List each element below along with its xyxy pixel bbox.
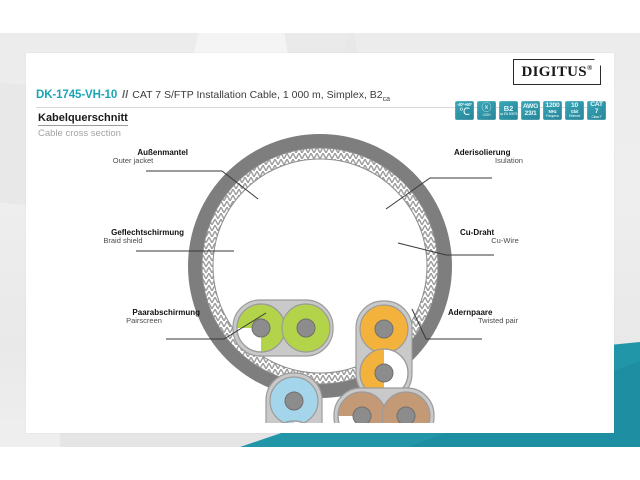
badge-line-2: ℃: [459, 108, 470, 118]
no-flame-icon: ⓧ: [482, 104, 492, 114]
wire-blue-solid: [270, 377, 318, 423]
callout-label-en: Cu-Wire: [460, 237, 550, 246]
callout-label-en: Braid shield: [62, 237, 184, 246]
product-description: CAT 7 S/FTP Installation Cable, 1 000 m,…: [132, 89, 382, 101]
callout-label-en: Isulation: [454, 157, 564, 166]
callout-outer-jacket: Außenmantel Outer jacket: [78, 148, 188, 166]
copper-core: [353, 407, 371, 423]
badge-line-3: ca EN 50575: [500, 113, 517, 116]
callout-insulation: Aderisolierung Isulation: [454, 148, 564, 166]
callout-cu-wire: Cu-Draht Cu-Wire: [460, 228, 550, 246]
title-separator: //: [122, 89, 128, 101]
category-badge: CAT 7 Class F: [587, 101, 606, 120]
copper-core: [297, 319, 315, 337]
callout-twisted-pair: Adernpaare Twisted pair: [448, 308, 548, 326]
badge-line-3: Class F: [591, 116, 601, 119]
pair-orange: [356, 301, 412, 401]
feature-badge-row: -40°+60° ℃ ⓧ LSZH B2 ca EN 50575 AWG 23/…: [455, 101, 606, 120]
product-description-subscript: ca: [383, 96, 390, 103]
copper-core: [397, 407, 415, 423]
frequency-badge: 1200 MHz Frequenz: [543, 101, 562, 120]
callout-label-en: Outer jacket: [78, 157, 188, 166]
callout-braid-shield: Geflechtschirmung Braid shield: [62, 228, 184, 246]
wire-green-white: [237, 304, 285, 352]
ethernet-speed-badge: 10 Gbit Ethernet: [565, 101, 584, 120]
part-number: DK-1745-VH-10: [36, 89, 117, 101]
awg-badge: AWG 23/1: [521, 101, 540, 120]
badge-line-2: 23/1: [524, 111, 536, 118]
copper-core: [375, 364, 393, 382]
pair-blue: [266, 373, 322, 423]
copper-core: [285, 392, 303, 410]
callout-pairscreen: Paarabschirmung Pairscreen: [88, 308, 200, 326]
wire-green-solid: [282, 304, 330, 352]
callout-label-en: Pairscreen: [88, 317, 200, 326]
temperature-range-badge: -40°+60° ℃: [455, 101, 474, 120]
badge-line-3: Ethernet: [569, 115, 580, 118]
callout-label-en: Twisted pair: [448, 317, 548, 326]
badge-line-3: LSZH: [483, 114, 491, 117]
pair-brown: [334, 388, 434, 423]
copper-core: [252, 319, 270, 337]
cable-cross-section-diagram: [26, 123, 614, 423]
logo-wordmark: DIGITUS: [522, 64, 587, 80]
slide-card: DIGITUS® DK-1745-VH-10//CAT 7 S/FTP Inst…: [26, 53, 614, 433]
digitus-logo: DIGITUS®: [513, 59, 601, 85]
badge-line-3: Frequenz: [546, 115, 559, 118]
wire-orange-solid: [360, 305, 408, 353]
screenshot-root: DIGITUS® DK-1745-VH-10//CAT 7 S/FTP Inst…: [0, 0, 640, 480]
logo-registered-mark: ®: [587, 64, 593, 72]
lszh-badge: ⓧ LSZH: [477, 101, 496, 120]
copper-core: [375, 320, 393, 338]
b2ca-badge: B2 ca EN 50575: [499, 101, 518, 120]
pair-green: [233, 300, 333, 356]
